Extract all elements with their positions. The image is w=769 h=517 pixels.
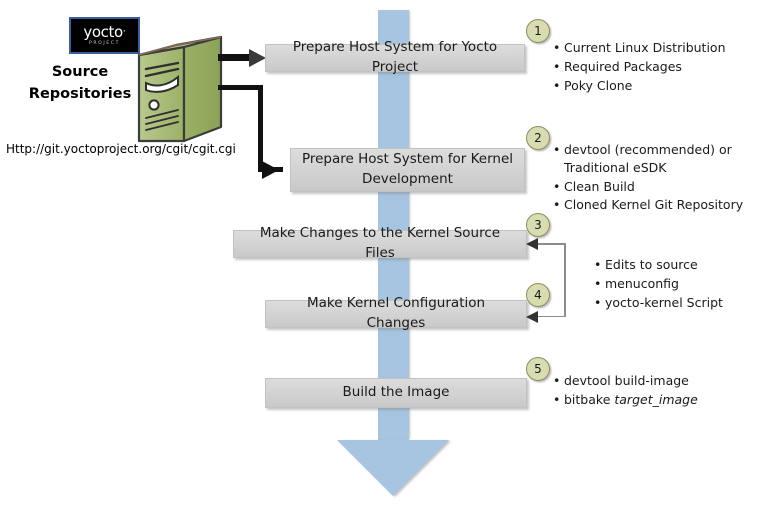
server-tower-icon — [136, 33, 224, 145]
bracket-arrowhead-step-4 — [526, 311, 538, 323]
list-item: Poky Clone — [564, 77, 763, 95]
yocto-logo-subtext: PROJECT — [89, 42, 120, 47]
step-number-4: 4 — [526, 283, 550, 307]
source-label-line2: Repositories — [20, 84, 140, 106]
step-number-3: 3 — [526, 213, 550, 237]
list-item: Clean Build — [564, 178, 756, 196]
list-item: yocto-kernel Script — [605, 294, 762, 312]
connector-server-to-step1 — [218, 54, 250, 61]
connector-server-to-step2-horizontal-top — [218, 85, 263, 90]
diagram-canvas: yocto· PROJECT Source Repositories Http:… — [0, 0, 769, 517]
connector-server-to-step1-arrowhead — [249, 49, 266, 67]
yocto-logo-wordmark: yocto· — [83, 25, 125, 40]
connector-server-to-step2-vertical — [258, 85, 263, 171]
yocto-logo-text: yocto — [83, 23, 122, 41]
process-box-step-1[interactable]: Prepare Host System for Yocto Project — [265, 44, 525, 72]
list-item: devtool build-image — [564, 372, 751, 390]
list-item: devtool (recommended) or Traditional eSD… — [564, 141, 756, 177]
source-label-line1: Source — [20, 62, 140, 84]
list-item: Current Linux Distribution — [564, 39, 763, 57]
list-item: Cloned Kernel Git Repository — [564, 196, 756, 214]
yocto-logo-dot: · — [123, 26, 126, 37]
process-box-step-3[interactable]: Make Changes to the Kernel Source Files — [233, 230, 527, 258]
process-box-step-5[interactable]: Build the Image — [265, 378, 527, 408]
source-repositories-label: Source Repositories — [20, 62, 140, 106]
yocto-project-logo: yocto· PROJECT — [69, 17, 140, 54]
step-5-bullets: devtool build-image bitbake target_image — [551, 372, 751, 410]
steps-3-4-shared-bullets: Edits to source menuconfig yocto-kernel … — [592, 256, 762, 312]
bracket-arm-to-step-4 — [534, 316, 565, 318]
list-item: bitbake target_image — [564, 391, 751, 409]
step-number-2: 2 — [526, 126, 550, 150]
bitbake-target-italic: target_image — [614, 392, 697, 407]
list-item: Required Packages — [564, 58, 763, 76]
bitbake-command-text: bitbake — [564, 392, 614, 407]
list-item: Edits to source — [605, 256, 762, 274]
step-1-bullets: Current Linux Distribution Required Pack… — [551, 39, 763, 95]
step-number-1: 1 — [526, 19, 550, 43]
process-box-step-4[interactable]: Make Kernel Configuration Changes — [265, 300, 527, 328]
step-2-bullets: devtool (recommended) or Traditional eSD… — [551, 141, 756, 215]
bracket-vertical-steps-3-4 — [564, 243, 566, 317]
list-item: menuconfig — [605, 275, 762, 293]
bracket-arm-to-step-3 — [534, 243, 565, 245]
main-flow-arrow-head — [337, 440, 449, 496]
process-box-step-2[interactable]: Prepare Host System for Kernel Developme… — [290, 148, 525, 192]
step-number-5: 5 — [526, 357, 550, 381]
bracket-arrowhead-step-3 — [526, 238, 538, 250]
connector-server-to-step2-arrowhead — [262, 161, 279, 179]
